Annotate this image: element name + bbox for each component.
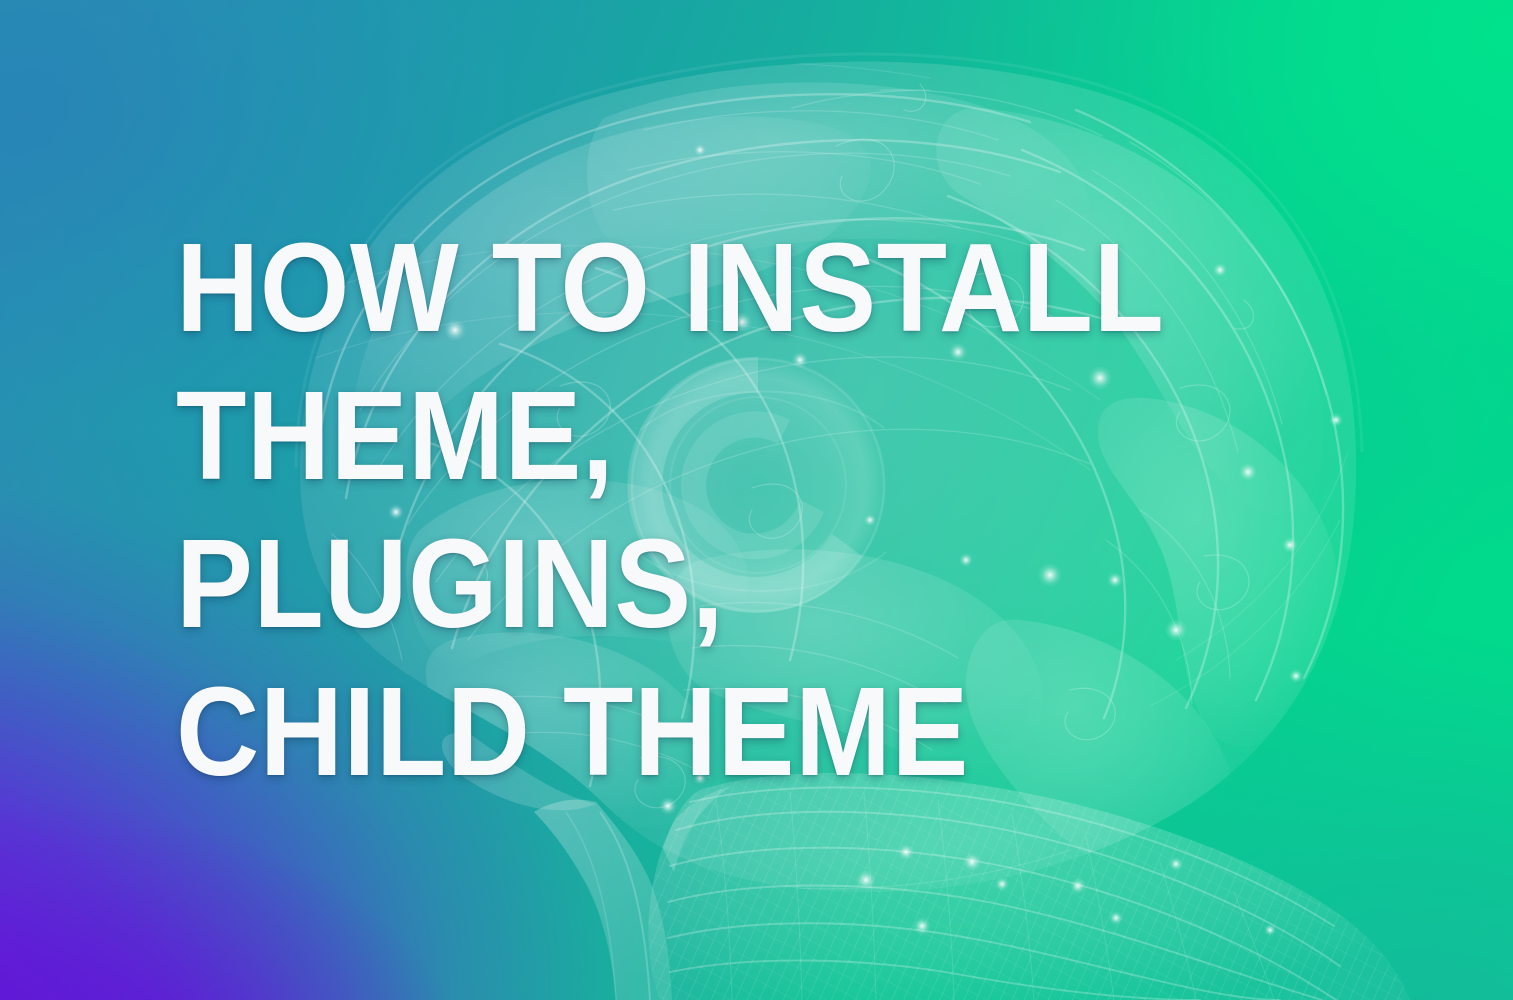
headline-line-4: CHILD THEME (176, 658, 1329, 806)
headline-line-1: HOW TO INSTALL (176, 214, 1329, 362)
headline: HOW TO INSTALL THEME, PLUGINS, CHILD THE… (176, 214, 1436, 806)
headline-line-3: PLUGINS, (176, 510, 1329, 658)
headline-line-2: THEME, (176, 362, 1329, 510)
featured-image-poster: HOW TO INSTALL THEME, PLUGINS, CHILD THE… (0, 0, 1513, 1000)
